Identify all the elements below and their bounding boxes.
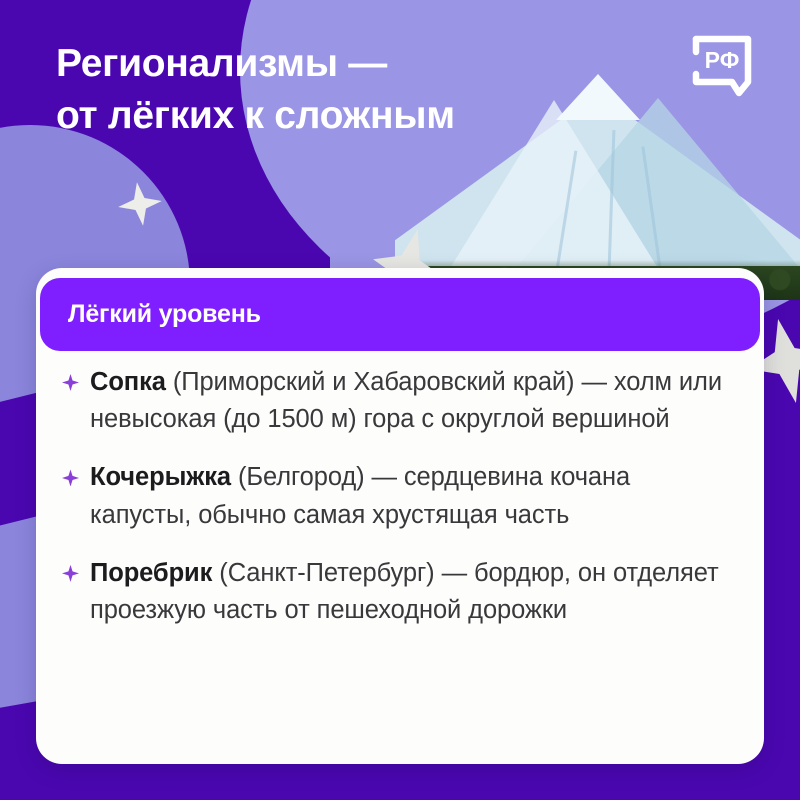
logo-text: РФ <box>705 47 740 73</box>
diamond-bullet-icon <box>62 469 79 486</box>
page-title: Регионализмы — от лёгких к сложным <box>56 38 616 142</box>
list-item-text: Поребрик (Санкт-Петербург) — бордюр, он … <box>90 555 734 629</box>
list-item-term: Кочерыжка <box>90 463 231 491</box>
diamond-bullet-icon <box>62 374 79 391</box>
level-banner: Лёгкий уровень <box>40 278 760 351</box>
list-item-text: Сопка (Приморский и Хабаровский край) — … <box>90 364 734 438</box>
rf-logo: РФ <box>686 30 758 102</box>
level-banner-label: Лёгкий уровень <box>40 300 261 329</box>
list-item-region: (Белгород) <box>238 463 365 491</box>
list-item-term: Сопка <box>90 368 166 396</box>
list-item: Поребрик (Санкт-Петербург) — бордюр, он … <box>62 555 734 629</box>
list-item: Кочерыжка (Белгород) — сердцевина кочана… <box>62 459 734 533</box>
list-item-region: (Приморский и Хабаровский край) <box>173 368 575 396</box>
list-item-term: Поребрик <box>90 559 212 587</box>
list-item-text: Кочерыжка (Белгород) — сердцевина кочана… <box>90 459 734 533</box>
list-item-region: (Санкт-Петербург) <box>219 559 434 587</box>
list-item: Сопка (Приморский и Хабаровский край) — … <box>62 364 734 438</box>
infographic-canvas: РФ Регионализмы — от лёгких к сложным Лё… <box>0 0 800 800</box>
content-card: Лёгкий уровень Сопка (Приморский и Хабар… <box>36 268 764 764</box>
diamond-bullet-icon <box>62 565 79 582</box>
regionalism-list: Сопка (Приморский и Хабаровский край) — … <box>36 364 764 650</box>
